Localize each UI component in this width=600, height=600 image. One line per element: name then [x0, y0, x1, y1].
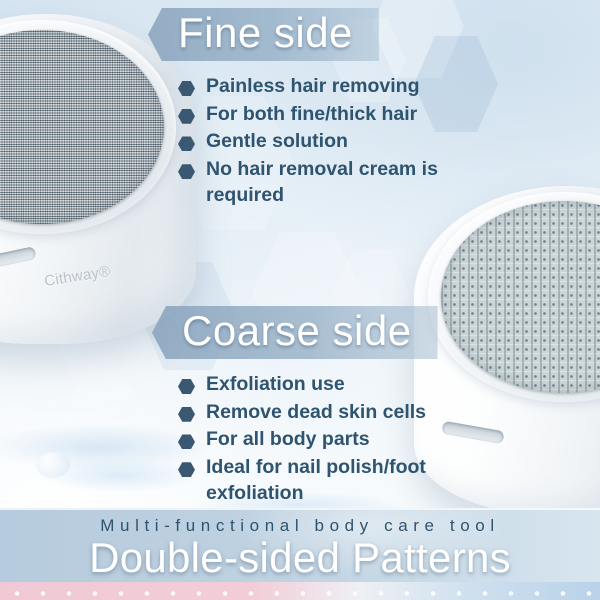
- product-device-fine: Cithway®: [0, 14, 196, 344]
- pink-bubble-strip: [0, 582, 600, 600]
- hexagon-bullet-icon: [178, 379, 195, 394]
- hexagon-bullet-icon: [178, 81, 195, 96]
- list-item-label: Exfoliation use: [206, 372, 345, 398]
- coarse-perforated-pad: [441, 201, 600, 393]
- list-item: Gentle solution: [178, 129, 474, 155]
- list-item-label: Painless hair removing: [206, 74, 420, 100]
- device-rim: [428, 192, 600, 402]
- banner-tagline: Multi-functional body care tool: [0, 516, 600, 536]
- water-droplet: [36, 452, 70, 478]
- hexagon-decor: [372, 0, 464, 78]
- bottom-banner: Multi-functional body care tool Double-s…: [0, 508, 600, 600]
- list-item-label: Gentle solution: [206, 129, 348, 155]
- list-item: Exfoliation use: [178, 372, 474, 398]
- coarse-side-bullet-list: Exfoliation use Remove dead skin cells F…: [178, 372, 474, 509]
- list-item-label: Remove dead skin cells: [206, 400, 426, 426]
- list-item: Remove dead skin cells: [178, 400, 474, 426]
- device-slot: [0, 246, 37, 271]
- list-item-label: Ideal for nail polish/foot exfoliation: [206, 455, 474, 506]
- heading-band: Coarse side: [152, 306, 438, 359]
- product-poster: Cithway® Fine side Painless hair removin…: [0, 0, 600, 600]
- hexagon-bullet-icon: [178, 109, 195, 124]
- heading-text: Fine side: [178, 10, 353, 55]
- list-item: For all body parts: [178, 427, 474, 453]
- list-item: For both fine/thick hair: [178, 102, 474, 128]
- list-item-label: For both fine/thick hair: [206, 102, 417, 128]
- list-item-label: No hair removal cream is required: [206, 157, 474, 208]
- hexagon-bullet-icon: [178, 407, 195, 422]
- hexagon-bullet-icon: [178, 164, 195, 179]
- heading-band: Fine side: [148, 8, 379, 61]
- hexagon-bullet-icon: [178, 434, 195, 449]
- list-item: Ideal for nail polish/foot exfoliation: [178, 455, 474, 506]
- hexagon-bullet-icon: [178, 136, 195, 151]
- fine-side-bullet-list: Painless hair removing For both fine/thi…: [178, 74, 474, 211]
- brand-label: Cithway®: [43, 263, 112, 290]
- hexagon-decor: [60, 300, 150, 400]
- fine-mesh-pad: [0, 30, 164, 224]
- heading-text: Coarse side: [182, 308, 412, 353]
- coarse-side-heading: Coarse side: [152, 306, 438, 359]
- list-item: No hair removal cream is required: [178, 157, 474, 208]
- fine-side-heading: Fine side: [148, 8, 379, 61]
- banner-title: Double-sided Patterns: [0, 534, 600, 582]
- device-body: [0, 14, 196, 344]
- hexagon-bullet-icon: [178, 462, 195, 477]
- list-item-label: For all body parts: [206, 427, 370, 453]
- list-item: Painless hair removing: [178, 74, 474, 100]
